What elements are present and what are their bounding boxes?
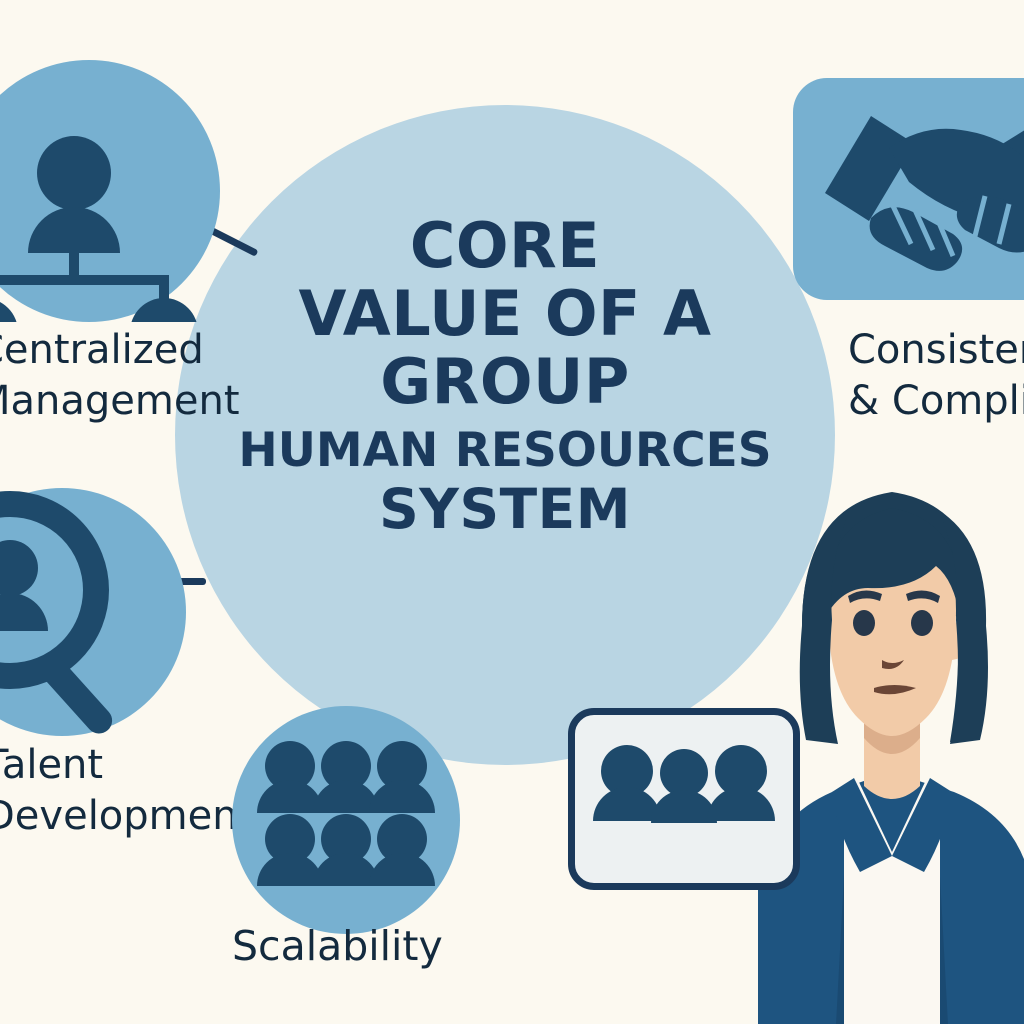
node-circle-talent-development[interactable] xyxy=(0,488,186,736)
magnifier-person-icon xyxy=(0,488,186,736)
hub-title-line-1: CORE xyxy=(205,215,805,277)
label-line-2: Development xyxy=(0,793,253,839)
label-line-1: Centralized xyxy=(0,327,204,373)
employee-directory-card[interactable] xyxy=(568,708,800,890)
people-grid-icon xyxy=(232,706,460,934)
label-line-1: Consistency xyxy=(848,327,1024,373)
org-chart-icon xyxy=(0,60,220,322)
hub-title-line-5: SYSTEM xyxy=(205,482,805,537)
handshake-icon xyxy=(793,78,1024,300)
label-line-2: & Compliance xyxy=(848,378,1024,424)
hub-title-line-4: HUMAN RESOURCES xyxy=(205,427,805,474)
node-label-centralized-management: Centralized Management xyxy=(0,325,240,427)
label-line-1: Talent xyxy=(0,742,103,788)
hub-title-line-2: VALUE OF A xyxy=(205,283,805,345)
infographic-canvas: Centralized Management Talent Developmen… xyxy=(0,0,1024,1024)
label-line-2: Management xyxy=(0,378,240,424)
label-line-1: Scalability xyxy=(232,922,443,970)
hub-title-block: CORE VALUE OF A GROUP HUMAN RESOURCES SY… xyxy=(205,215,805,537)
node-label-talent-development: Talent Development xyxy=(0,740,253,842)
node-circle-scalability[interactable] xyxy=(232,706,460,934)
node-label-scalability: Scalability xyxy=(232,920,443,972)
node-circle-centralized-management[interactable] xyxy=(0,60,220,322)
hub-title-line-3: GROUP xyxy=(205,351,805,413)
node-panel-consistency-compliance[interactable] xyxy=(793,78,1024,300)
three-people-icon xyxy=(575,715,793,883)
node-label-consistency-compliance: Consistency & Compliance xyxy=(848,325,1024,427)
